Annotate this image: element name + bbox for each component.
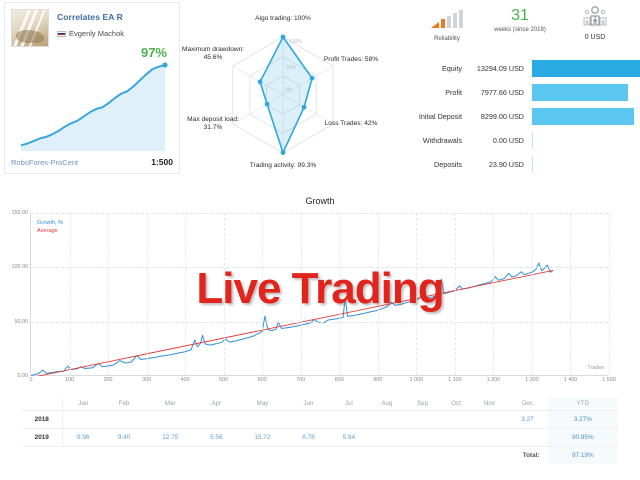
bar-label: Profit — [398, 88, 468, 97]
kpi-subscribers: 1 0 USD — [562, 6, 628, 41]
grid-line-v — [532, 213, 533, 375]
table-cell-year: 2019 — [22, 429, 62, 447]
y-axis-tick: 100.00 — [12, 264, 32, 270]
table-cell-month — [288, 411, 328, 429]
signal-bars-icon — [430, 10, 464, 30]
bar-label: Deposits — [398, 160, 468, 169]
bar-track — [532, 60, 638, 77]
table-col-jun: Jun — [288, 398, 328, 411]
bar-fill — [532, 84, 628, 101]
y-axis-tick: 150.00 — [12, 210, 32, 216]
table-cell-month: 12.75 — [144, 429, 196, 447]
account-bar-row: Deposits23.90 USD — [398, 152, 638, 176]
grid-line-v — [570, 213, 571, 375]
table-cell-month — [440, 411, 471, 429]
radar-chart-svg: 100%50%0% — [176, 4, 390, 186]
table-cell-month — [405, 411, 441, 429]
kpi-reliability: Reliability — [414, 10, 480, 42]
table-cell-month: 5.94 — [329, 429, 369, 447]
x-axis-tick: 900 — [373, 375, 382, 383]
x-axis-tick: 1 100 — [448, 375, 462, 383]
account-bar-row: Withdrawals0.00 USD — [398, 128, 638, 152]
kpi-reliability-caption: Reliability — [414, 36, 480, 42]
mini-chart-svg — [9, 49, 175, 153]
x-axis-tick: 400 — [181, 375, 190, 383]
bar-value: 13294.09 USD — [468, 64, 532, 73]
x-axis-tick: 1 300 — [525, 375, 539, 383]
signal-card[interactable]: Correlates EA R Evgenly Machok 97% RoboF… — [4, 2, 180, 174]
x-axis-tick: 1 400 — [564, 375, 578, 383]
table-row: 20199.969.4012.755.5615.728.785.9490.95% — [22, 429, 618, 447]
table-col-year — [22, 398, 62, 411]
kpi-subscribers-caption: 0 USD — [562, 34, 628, 41]
x-axis-tick: 200 — [104, 375, 113, 383]
x-axis-tick: 700 — [296, 375, 305, 383]
table-col-nov: Nov — [472, 398, 508, 411]
signal-statistics-page: Correlates EA R Evgenly Machok 97% RoboF… — [0, 0, 640, 480]
live-trading-watermark: Live Trading — [196, 264, 443, 314]
account-bar-row: Initial Deposit8299.00 USD — [398, 104, 638, 128]
broker-name[interactable]: RoboForex-ProCent — [11, 158, 78, 167]
svg-text:1: 1 — [593, 17, 597, 23]
table-cell-month — [507, 429, 547, 447]
grid-line-v — [108, 213, 109, 375]
grid-line-v — [70, 213, 71, 375]
grid-line-v — [609, 213, 610, 375]
grid-line-v — [493, 213, 494, 375]
table-cell-month — [144, 411, 196, 429]
x-axis-tick: 1 000 — [410, 375, 424, 383]
radar-label-algo-trading: Algo trading: 100% — [248, 15, 318, 23]
table-col-oct: Oct — [440, 398, 471, 411]
grid-line-h — [31, 322, 608, 323]
kpi-row: Reliability 31 weeks (since 2018) 1 0 US… — [400, 4, 636, 52]
subscribers-icon: 1 — [580, 6, 610, 28]
table-cell-month — [405, 429, 441, 447]
signal-growth-percent: 97% — [141, 45, 167, 60]
bar-baseline — [532, 132, 533, 149]
table-cell-month — [472, 429, 508, 447]
table-header-row: JanFebMarAprMayJunJulAugSepOctNovDecYTD — [22, 398, 618, 411]
signal-mini-growth-chart: 97% — [9, 49, 175, 153]
table-cell-month — [196, 411, 236, 429]
table-row: 20183.273.27% — [22, 411, 618, 429]
signal-title[interactable]: Correlates EA R — [57, 12, 124, 22]
russia-flag-icon — [57, 31, 66, 37]
growth-xaxis-label: Trades — [587, 365, 604, 371]
bar-label: Withdrawals — [398, 136, 468, 145]
bar-baseline — [532, 156, 533, 173]
table-cell-month: 3.27 — [507, 411, 547, 429]
signal-avatar-image — [11, 9, 49, 47]
table-col-sep: Sep — [405, 398, 441, 411]
bar-fill — [532, 60, 640, 77]
x-axis-tick: 500 — [219, 375, 228, 383]
x-axis-tick: 0 — [30, 375, 33, 383]
bar-track — [532, 108, 638, 125]
radar-label-trading-activity: Trading activity: 99.3% — [248, 162, 318, 170]
x-axis-tick: 300 — [142, 375, 151, 383]
account-bar-row: Profit7977.66 USD — [398, 80, 638, 104]
monthly-growth-table: JanFebMarAprMayJunJulAugSepOctNovDecYTD … — [22, 398, 618, 464]
bar-label: Initial Deposit — [398, 112, 468, 121]
table-col-jul: Jul — [329, 398, 369, 411]
x-axis-tick: 800 — [335, 375, 344, 383]
table-col-dec: Dec — [507, 398, 547, 411]
table-total-label: Total: — [22, 447, 548, 465]
table-cell-month: 8.78 — [288, 429, 328, 447]
table-col-ytd: YTD — [548, 398, 618, 411]
y-axis-tick: 50.00 — [15, 319, 32, 325]
bar-track — [532, 84, 638, 101]
radar-label-profit-trades: Profit Trades: 58% — [316, 56, 386, 64]
grid-line-v — [185, 213, 186, 375]
table-col-apr: Apr — [196, 398, 236, 411]
bar-label: Equity — [398, 64, 468, 73]
table-cell-month — [236, 411, 288, 429]
table-col-aug: Aug — [369, 398, 405, 411]
svg-text:0%: 0% — [285, 88, 293, 94]
table-cell-month: 9.40 — [104, 429, 144, 447]
table-col-jan: Jan — [62, 398, 104, 411]
table-cell-year: 2018 — [22, 411, 62, 429]
x-axis-tick: 600 — [258, 375, 267, 383]
radar-chart: 100%50%0% Algo trading: 100% Profit Trad… — [176, 4, 390, 186]
account-bar-row: Equity13294.09 USD — [398, 56, 638, 80]
bar-track — [532, 132, 638, 149]
radar-label-maximum-drawdown: Maximum drawdown: 45.6% — [178, 46, 248, 63]
table-cell-month: 9.96 — [62, 429, 104, 447]
signal-card-header: Correlates EA R Evgenly Machok — [11, 9, 124, 47]
bar-value: 0.00 USD — [468, 136, 532, 145]
svg-text:50%: 50% — [286, 65, 297, 71]
table-cell-ytd: 90.95% — [548, 429, 618, 447]
bar-track — [532, 156, 638, 173]
account-bars: Equity13294.09 USDProfit7977.66 USDIniti… — [398, 56, 638, 186]
signal-author[interactable]: Evgenly Machok — [69, 29, 124, 38]
svg-text:100%: 100% — [289, 39, 302, 45]
leverage-value: 1:500 — [151, 157, 173, 167]
table-cell-month — [440, 429, 471, 447]
table-cell-month: 5.56 — [196, 429, 236, 447]
table-col-may: May — [236, 398, 288, 411]
kpi-weeks-value: 31 — [478, 6, 562, 26]
table-cell-month — [104, 411, 144, 429]
table-cell-month — [329, 411, 369, 429]
radar-label-max-deposit-load: Max deposit load: 31.7% — [178, 116, 248, 133]
table-cell-ytd: 3.27% — [548, 411, 618, 429]
table-col-mar: Mar — [144, 398, 196, 411]
growth-chart-section: Growth Growth, % Average Trades 0.0050.0… — [0, 196, 640, 396]
bar-value: 23.90 USD — [468, 160, 532, 169]
x-axis-tick: 1 200 — [487, 375, 501, 383]
bar-value: 7977.66 USD — [468, 88, 532, 97]
bar-value: 8299.00 USD — [468, 112, 532, 121]
grid-line-h — [31, 213, 608, 214]
radar-label-loss-trades: Loss Trades: 42% — [316, 120, 386, 128]
kpi-weeks: 31 weeks (since 2018) — [478, 6, 562, 33]
x-axis-tick: 1 500 — [602, 375, 616, 383]
table-cell-month: 15.72 — [236, 429, 288, 447]
growth-chart-title: Growth — [0, 196, 640, 206]
top-summary-section: Correlates EA R Evgenly Machok 97% RoboF… — [0, 0, 640, 192]
signal-card-footer: RoboForex-ProCent 1:500 — [11, 157, 173, 167]
table-total-value: 97.19% — [548, 447, 618, 465]
table-cell-month — [369, 429, 405, 447]
kpi-weeks-caption: weeks (since 2018) — [478, 27, 562, 33]
table-cell-month — [369, 411, 405, 429]
table-total-row: Total:97.19% — [22, 447, 618, 465]
grid-line-v — [455, 213, 456, 375]
bar-fill — [532, 108, 634, 125]
grid-line-v — [147, 213, 148, 375]
table-cell-month — [62, 411, 104, 429]
table-cell-month — [472, 411, 508, 429]
table-col-feb: Feb — [104, 398, 144, 411]
x-axis-tick: 100 — [65, 375, 74, 383]
